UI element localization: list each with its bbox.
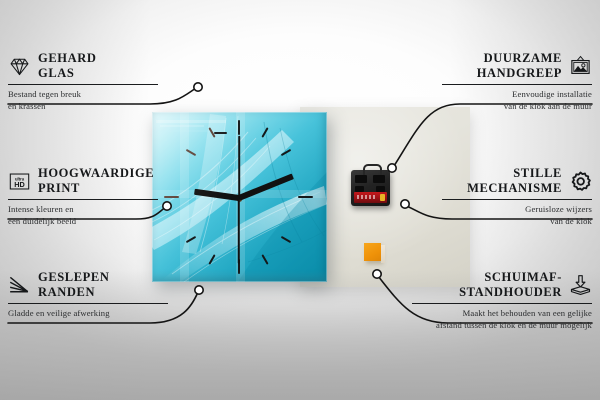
callout-desc-line1: Geruisloze wijzers — [442, 204, 592, 215]
ultra-hd-icon: ultra HD — [8, 170, 31, 193]
callout-title-row: STILLE MECHANISME — [442, 166, 592, 196]
battery-plus-terminal — [380, 194, 385, 201]
infographic-canvas: GEHARD GLAS Bestand tegen breuk en krass… — [0, 0, 600, 400]
callout-schuimaf-standhouder: SCHUIMAF- STANDHOUDER Maakt het behouden… — [412, 270, 592, 331]
callout-rule — [442, 199, 592, 200]
callout-title: STILLE MECHANISME — [467, 166, 562, 196]
callout-rule — [8, 303, 168, 304]
second-hand — [238, 198, 240, 264]
mechanism-detail — [355, 175, 367, 183]
callout-title: HOOGWAARDIGE PRINT — [38, 166, 154, 196]
callout-title: GEHARD GLAS — [38, 51, 96, 81]
clock-mechanism — [351, 170, 390, 206]
callout-rule — [412, 303, 592, 304]
hanging-picture-icon — [569, 55, 592, 78]
callout-gehard-glas: GEHARD GLAS Bestand tegen breuk en krass… — [8, 51, 158, 112]
mechanism-detail — [373, 175, 385, 183]
callout-duurzame-handgreep: DUURZAME HANDGREEP Eenvoudige installati… — [442, 51, 592, 112]
callout-desc-line1: Gladde en veilige afwerking — [8, 308, 168, 319]
second-hand-tail — [238, 136, 240, 198]
callout-title-line1: STILLE — [467, 166, 562, 181]
callout-desc-line2: en krassen — [8, 101, 158, 112]
callout-description: Gladde en veilige afwerking — [8, 308, 168, 319]
callout-description: Maakt het behouden van een gelijke afsta… — [412, 308, 592, 331]
callout-title-row: DUURZAME HANDGREEP — [442, 51, 592, 81]
callout-desc-line2: van de klok aan de muur — [442, 101, 592, 112]
clock-tick — [214, 132, 227, 134]
callout-title-row: ultra HD HOOGWAARDIGE PRINT — [8, 166, 158, 196]
wall-clock — [152, 112, 327, 282]
callout-geslepen-randen: GESLEPEN RANDEN Gladde en veilige afwerk… — [8, 270, 168, 320]
callout-rule — [442, 84, 592, 85]
foam-spacer-pad — [364, 243, 381, 261]
callout-title-line1: GESLEPEN — [38, 270, 110, 285]
callout-hoogwaardige-print: ultra HD HOOGWAARDIGE PRINT Intense kleu… — [8, 166, 158, 227]
clock-tick — [238, 120, 240, 135]
callout-stille-mechanisme: STILLE MECHANISME Geruisloze wijzers van… — [442, 166, 592, 227]
callout-title-line1: GEHARD — [38, 51, 96, 66]
callout-desc-line1: Intense kleuren en — [8, 204, 158, 215]
diamond-icon — [8, 55, 31, 78]
callout-title-row: GESLEPEN RANDEN — [8, 270, 168, 300]
arrow-onto-pad-icon — [569, 274, 592, 297]
callout-description: Eenvoudige installatie van de klok aan d… — [442, 89, 592, 112]
callout-title-line1: HOOGWAARDIGE — [38, 166, 154, 181]
callout-rule — [8, 84, 158, 85]
callout-desc-line2: een duidelijk beeld — [8, 216, 158, 227]
battery-label — [357, 195, 377, 199]
callout-rule — [8, 199, 158, 200]
callout-title: DUURZAME HANDGREEP — [477, 51, 562, 81]
callout-desc-line1: Bestand tegen breuk — [8, 89, 158, 100]
diagonal-lines-icon — [8, 274, 31, 297]
callout-title-line2: GLAS — [38, 66, 96, 81]
callout-description: Intense kleuren en een duidelijk beeld — [8, 204, 158, 227]
battery — [354, 192, 387, 203]
callout-desc-line2: van de klok — [442, 216, 592, 227]
foam-pad-side — [381, 245, 385, 263]
callout-title: GESLEPEN RANDEN — [38, 270, 110, 300]
callout-description: Geruisloze wijzers van de klok — [442, 204, 592, 227]
callout-title-row: GEHARD GLAS — [8, 51, 158, 81]
gear-icon — [569, 170, 592, 193]
svg-text:HD: HD — [14, 179, 25, 188]
callout-title-row: SCHUIMAF- STANDHOUDER — [412, 270, 592, 300]
callout-title-line2: STANDHOUDER — [459, 285, 562, 300]
clock-tick — [164, 196, 179, 198]
clock-tick — [298, 196, 313, 198]
callout-title-line2: HANDGREEP — [477, 66, 562, 81]
callout-title-line2: PRINT — [38, 181, 154, 196]
mechanism-hook — [363, 164, 382, 175]
callout-desc-line1: Maakt het behouden van een gelijke — [412, 308, 592, 319]
callout-description: Bestand tegen breuk en krassen — [8, 89, 158, 112]
callout-title: SCHUIMAF- STANDHOUDER — [459, 270, 562, 300]
callout-title-line1: SCHUIMAF- — [459, 270, 562, 285]
callout-title-line2: RANDEN — [38, 285, 110, 300]
callout-title-line1: DUURZAME — [477, 51, 562, 66]
callout-desc-line1: Eenvoudige installatie — [442, 89, 592, 100]
callout-title-line2: MECHANISME — [467, 181, 562, 196]
callout-desc-line2: afstand tussen de klok en de muur mogeli… — [412, 320, 592, 331]
